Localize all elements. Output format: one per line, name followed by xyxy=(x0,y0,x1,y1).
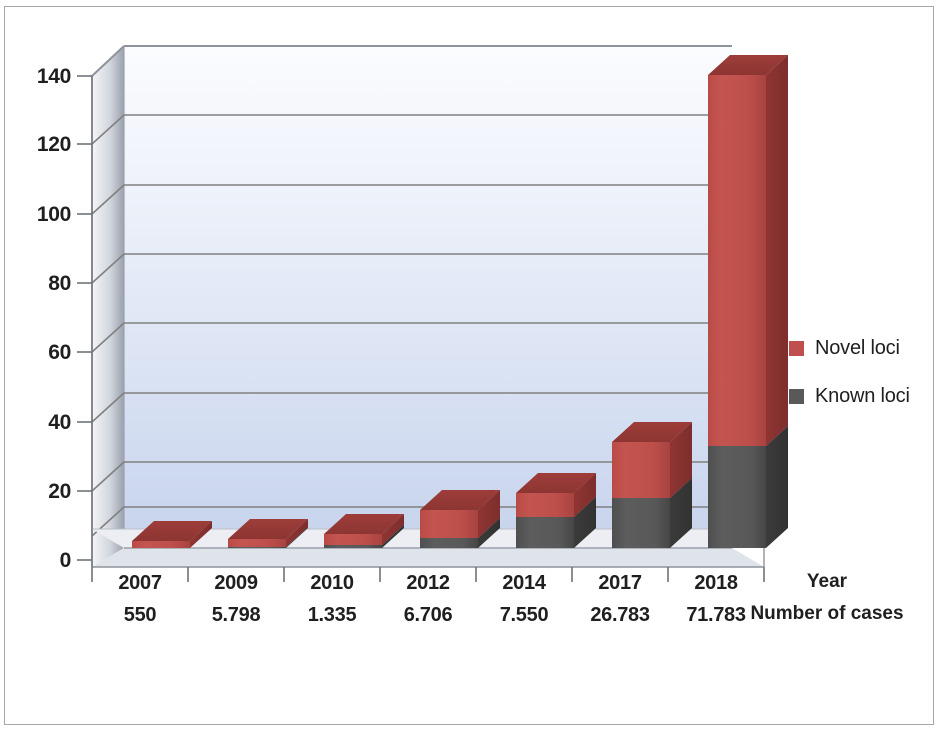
y-tick-label: 60 xyxy=(5,342,71,363)
x-category-year: 2012 xyxy=(382,573,474,593)
x-category-cases: 26.783 xyxy=(574,605,666,625)
x-category-cases: 5.798 xyxy=(190,605,282,625)
y-tick-label: 80 xyxy=(5,273,71,294)
bar-2018[interactable] xyxy=(708,55,788,548)
legend-item-known-loci[interactable]: Known loci xyxy=(789,385,939,408)
x-category-cases: 550 xyxy=(94,605,186,625)
x-category-2007: 2007 550 xyxy=(94,573,186,625)
x-category-year: 2009 xyxy=(190,573,282,593)
bar-2017[interactable] xyxy=(612,422,692,548)
x-category-2014: 2014 7.550 xyxy=(478,573,570,625)
y-tick-label: 120 xyxy=(5,134,71,155)
legend-item-novel-loci[interactable]: Novel loci xyxy=(789,337,939,360)
axis-title-year: Year xyxy=(727,572,927,591)
legend-swatch-known-loci xyxy=(789,389,804,404)
x-category-cases: 1.335 xyxy=(286,605,378,625)
x-category-2009: 2009 5.798 xyxy=(190,573,282,625)
y-axis-ticks xyxy=(77,76,92,567)
x-category-cases: 7.550 xyxy=(478,605,570,625)
y-tick-label: 140 xyxy=(5,66,71,87)
x-category-year: 2007 xyxy=(94,573,186,593)
y-tick-label: 40 xyxy=(5,412,71,433)
y-tick-label: 0 xyxy=(5,550,71,571)
x-category-year: 2017 xyxy=(574,573,666,593)
chart-legend: Novel loci Known loci xyxy=(789,337,939,433)
x-category-2012: 2012 6.706 xyxy=(382,573,474,625)
x-category-2017: 2017 26.783 xyxy=(574,573,666,625)
chart-frame: 140 120 100 80 60 40 20 0 2007 550 2009 … xyxy=(4,6,934,725)
x-category-cases: 6.706 xyxy=(382,605,474,625)
legend-label-known-loci: Known loci xyxy=(815,385,910,408)
bar-2014[interactable] xyxy=(516,473,596,548)
plot-left-wall xyxy=(92,46,124,567)
y-tick-label: 20 xyxy=(5,481,71,502)
legend-label-novel-loci: Novel loci xyxy=(815,337,900,360)
x-category-year: 2014 xyxy=(478,573,570,593)
y-tick-label: 100 xyxy=(5,204,71,225)
x-category-2010: 2010 1.335 xyxy=(286,573,378,625)
axis-titles: Year Number of cases xyxy=(727,572,927,623)
x-category-year: 2010 xyxy=(286,573,378,593)
legend-swatch-novel-loci xyxy=(789,341,804,356)
axis-title-cases: Number of cases xyxy=(727,604,927,623)
